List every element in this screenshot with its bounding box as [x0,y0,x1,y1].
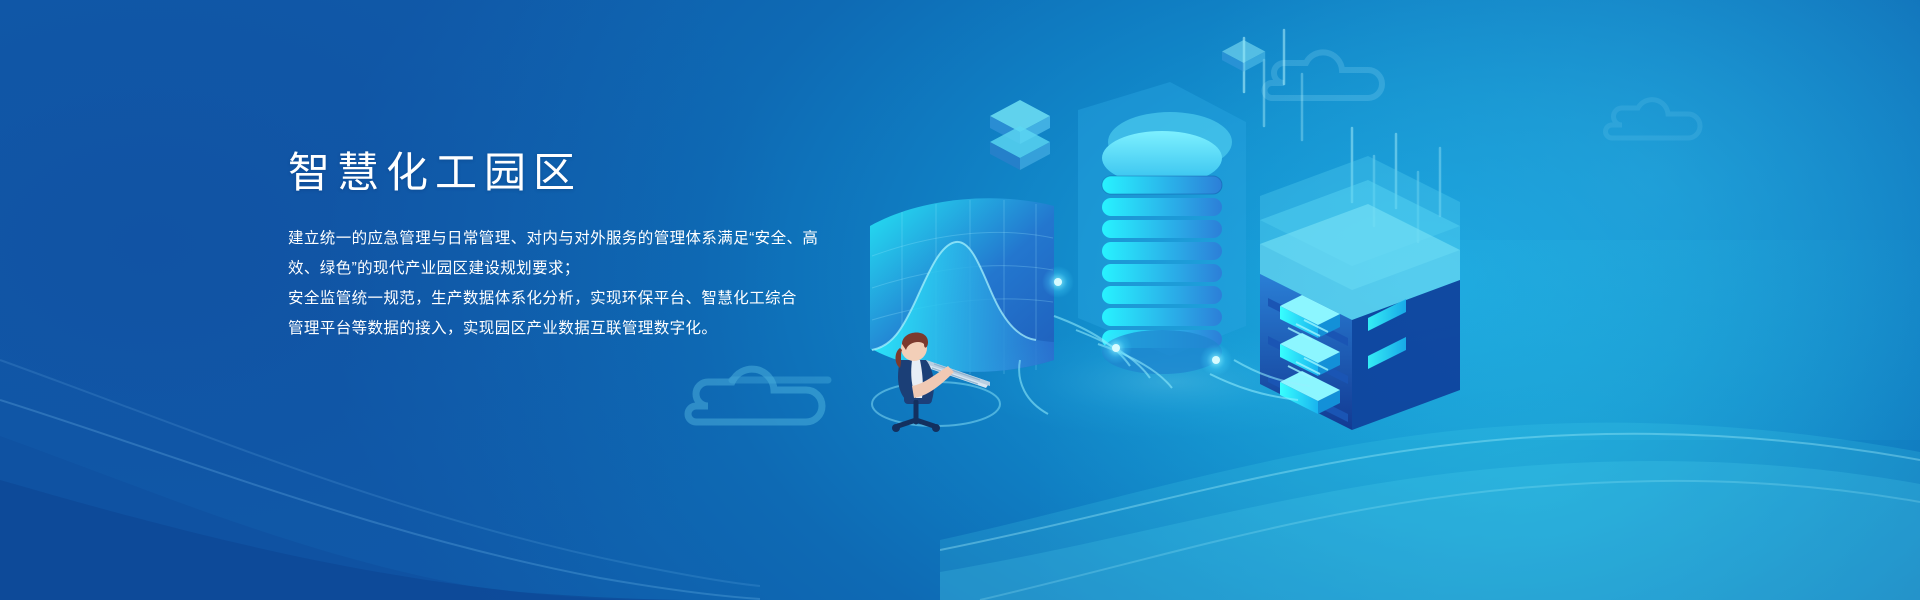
wave-decoration-left [0,340,760,600]
hero-description: 建立统一的应急管理与日常管理、对内与对外服务的管理体系满足“安全、高 效、绿色”… [288,224,888,344]
hero-copy: 智慧化工园区 建立统一的应急管理与日常管理、对内与对外服务的管理体系满足“安全、… [288,148,888,344]
isometric-datacenter-illustration [840,30,1460,450]
description-line-3: 安全监管统一规范，生产数据体系化分析，实现环保平台、智慧化工综合 [288,284,888,314]
floating-cube-stack-far [1222,40,1265,72]
description-line-1: 建立统一的应急管理与日常管理、对内与对外服务的管理体系满足“安全、高 [288,224,888,254]
server-rack [1260,156,1460,430]
description-line-2: 效、绿色”的现代产业园区建设规划要求； [288,254,888,284]
description-line-4: 管理平台等数据的接入，实现园区产业数据互联管理数字化。 [288,314,888,344]
floating-cube-stack-upper [990,100,1050,170]
hero-banner: 智慧化工园区 建立统一的应急管理与日常管理、对内与对外服务的管理体系满足“安全、… [0,0,1920,600]
page-title: 智慧化工园区 [288,148,888,198]
illustration-svg [840,30,1460,450]
cloud-icon [1600,96,1720,148]
